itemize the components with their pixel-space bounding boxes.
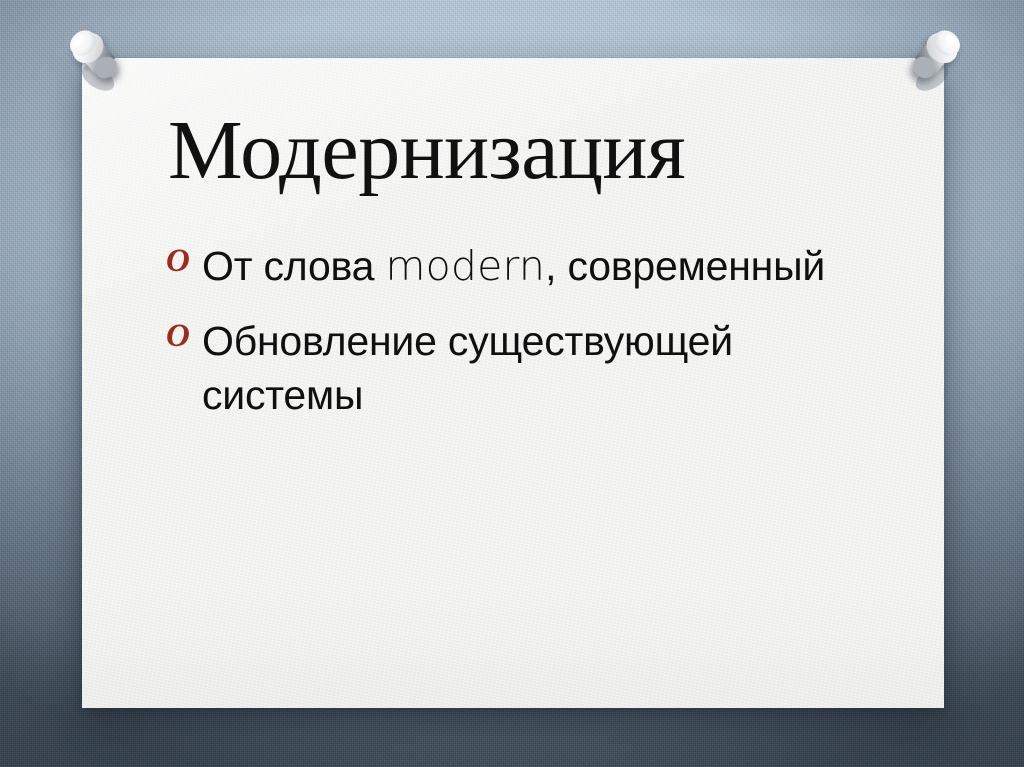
bullet-text-part-leading: От слова: [202, 243, 385, 289]
bullet-text-part-leading: Обновление существующей системы: [202, 318, 733, 417]
list-item: O От слова modern, современный: [164, 240, 884, 293]
presentation-slide: Модернизация O От слова modern, современ…: [0, 0, 1024, 767]
list-item: O Обновление существующей системы: [164, 315, 884, 422]
list-item-text: От слова modern, современный: [202, 240, 884, 293]
bullet-marker-icon: O: [164, 240, 202, 283]
slide-title: Модернизация: [168, 107, 868, 194]
pushpin-icon: [58, 22, 132, 102]
bullet-text-part-trailing: , современный: [545, 243, 825, 289]
bullet-text-part-latin: modern: [385, 242, 545, 290]
slide-content: Модернизация O От слова modern, современ…: [82, 58, 944, 708]
pushpin-graphic: [58, 22, 132, 102]
list-item-text: Обновление существующей системы: [202, 315, 884, 422]
bullet-list: O От слова modern, современный O Обновле…: [164, 240, 884, 444]
slide-paper-card: Модернизация O От слова modern, современ…: [82, 58, 944, 708]
bullet-marker-icon: O: [164, 315, 202, 358]
pushpin-icon: [898, 22, 972, 102]
pushpin-graphic: [898, 22, 972, 102]
